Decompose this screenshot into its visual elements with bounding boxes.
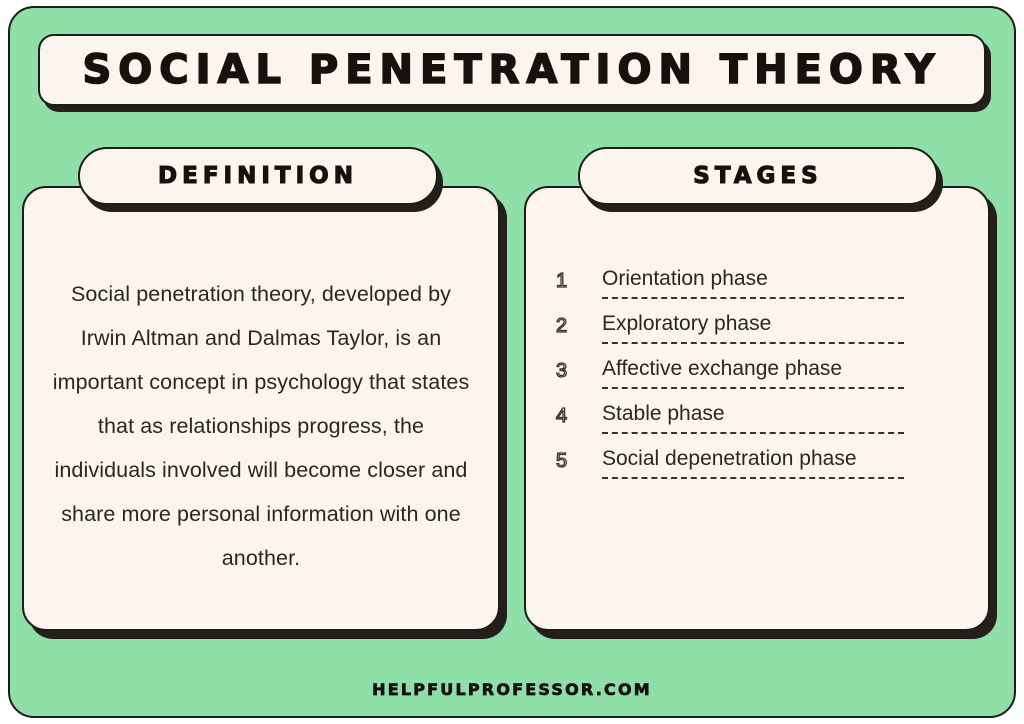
stage-label-wrap: Social depenetration phase: [602, 446, 968, 472]
list-item: 3 Affective exchange phase: [556, 356, 968, 401]
definition-card-body: Social penetration theory, developed by …: [22, 186, 500, 631]
stages-heading-pill: Stages: [578, 147, 938, 205]
stage-label: Exploratory phase: [602, 311, 968, 337]
infographic-poster: Social Penetration Theory Social penetra…: [0, 0, 1024, 724]
stage-number: 4: [556, 401, 602, 429]
stage-dashed-rule: [602, 387, 904, 389]
stage-dashed-rule: [602, 342, 904, 344]
stage-label-wrap: Orientation phase: [602, 266, 968, 292]
footer: helpfulprofessor.com: [0, 680, 1024, 699]
stage-number: 2: [556, 311, 602, 339]
stage-dashed-rule: [602, 297, 904, 299]
stage-label: Stable phase: [602, 401, 968, 427]
stages-card-body: 1 Orientation phase 2 Exploratory phase …: [524, 186, 990, 631]
list-item: 5 Social depenetration phase: [556, 446, 968, 491]
stage-dashed-rule: [602, 432, 904, 434]
stage-label-wrap: Stable phase: [602, 401, 968, 427]
list-item: 1 Orientation phase: [556, 266, 968, 311]
stage-number: 5: [556, 446, 602, 474]
title-banner: Social Penetration Theory: [38, 34, 986, 106]
page-title: Social Penetration Theory: [82, 47, 941, 93]
stage-dashed-rule: [602, 477, 904, 479]
stage-label-wrap: Exploratory phase: [602, 311, 968, 337]
stage-label-wrap: Affective exchange phase: [602, 356, 968, 382]
list-item: 2 Exploratory phase: [556, 311, 968, 356]
stage-label: Social depenetration phase: [602, 446, 968, 472]
definition-heading-pill: Definition: [78, 147, 438, 205]
definition-text: Social penetration theory, developed by …: [52, 272, 470, 580]
stage-label: Orientation phase: [602, 266, 968, 292]
stages-heading-label: Stages: [693, 163, 822, 189]
definition-heading-label: Definition: [158, 163, 358, 189]
stage-number: 3: [556, 356, 602, 384]
list-item: 4 Stable phase: [556, 401, 968, 446]
stage-number: 1: [556, 266, 602, 294]
footer-website-label: helpfulprofessor.com: [372, 680, 652, 699]
stage-label: Affective exchange phase: [602, 356, 968, 382]
